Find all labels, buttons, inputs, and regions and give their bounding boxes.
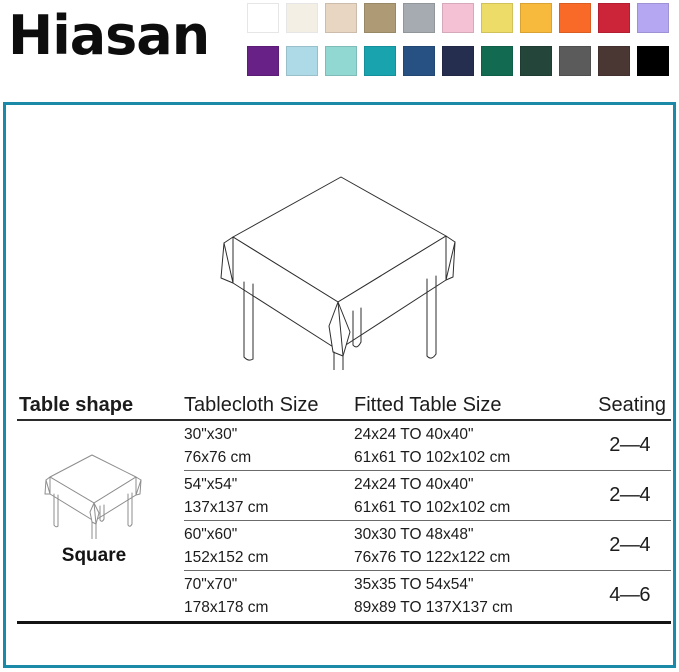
square-tablecloth-illustration (196, 160, 476, 370)
cell-tablecloth-size: 60"x60" 152x152 cm (184, 523, 268, 569)
tablecloth-size-cm: 152x152 cm (184, 546, 268, 569)
tablecloth-size-inches: 70"x70" (184, 576, 237, 593)
color-swatch-pink[interactable] (442, 3, 474, 33)
color-swatch-dark-gray[interactable] (559, 46, 591, 76)
table-bottom-rule (17, 621, 671, 624)
color-swatch-navy[interactable] (442, 46, 474, 76)
color-swatch-grid (247, 3, 675, 76)
tablecloth-size-inches: 30"x30" (184, 426, 237, 443)
column-header-table-shape: Table shape (19, 394, 133, 417)
fitted-size-inches: 24x24 TO 40x40" (354, 426, 474, 443)
fitted-size-inches: 30x30 TO 48x48" (354, 526, 474, 543)
tablecloth-size-inches: 54"x54" (184, 476, 237, 493)
color-swatch-hunter-green[interactable] (520, 46, 552, 76)
fitted-size-cm: 89x89 TO 137X137 cm (354, 596, 513, 619)
tablecloth-size-cm: 137x137 cm (184, 496, 268, 519)
cell-fitted-table-size: 30x30 TO 48x48" 76x76 TO 122x122 cm (354, 523, 510, 569)
color-swatch-taupe[interactable] (364, 3, 396, 33)
brand-logo: Hiasan (8, 6, 209, 66)
color-swatch-ivory[interactable] (286, 3, 318, 33)
fitted-size-inches: 35x35 TO 54x54" (354, 576, 474, 593)
color-swatch-denim-blue[interactable] (403, 46, 435, 76)
color-swatch-black[interactable] (637, 46, 669, 76)
tablecloth-size-inches: 60"x60" (184, 526, 237, 543)
color-swatch-marigold[interactable] (520, 3, 552, 33)
color-swatch-light-blue[interactable] (286, 46, 318, 76)
cell-tablecloth-size: 30"x30" 76x76 cm (184, 423, 251, 469)
color-swatch-silver-gray[interactable] (403, 3, 435, 33)
cell-seating: 2—4 (609, 484, 650, 507)
color-swatch-purple[interactable] (247, 46, 279, 76)
color-swatch-aqua[interactable] (325, 46, 357, 76)
page-header: Hiasan (0, 0, 679, 96)
illustration-area (6, 105, 673, 377)
color-swatch-emerald[interactable] (481, 46, 513, 76)
cell-tablecloth-size: 70"x70" 178x178 cm (184, 573, 268, 619)
square-table-icon (34, 453, 154, 539)
cell-tablecloth-size: 54"x54" 137x137 cm (184, 473, 268, 519)
size-table: Table shape Tablecloth Size Fitted Table… (13, 387, 672, 419)
cell-fitted-table-size: 24x24 TO 40x40" 61x61 TO 102x102 cm (354, 473, 510, 519)
color-swatch-teal[interactable] (364, 46, 396, 76)
fitted-size-cm: 61x61 TO 102x102 cm (354, 496, 510, 519)
tablecloth-size-cm: 178x178 cm (184, 596, 268, 619)
size-spec-panel: Table shape Tablecloth Size Fitted Table… (3, 102, 676, 668)
cell-seating: 2—4 (609, 434, 650, 457)
shape-label: Square (14, 545, 174, 567)
fitted-size-inches: 24x24 TO 40x40" (354, 476, 474, 493)
color-swatch-dark-brown[interactable] (598, 46, 630, 76)
color-swatch-red[interactable] (598, 3, 630, 33)
color-swatch-lavender[interactable] (637, 3, 669, 33)
shape-cell: Square (14, 453, 174, 567)
column-header-tablecloth-size: Tablecloth Size (184, 394, 319, 417)
cell-fitted-table-size: 24x24 TO 40x40" 61x61 TO 102x102 cm (354, 423, 510, 469)
cell-fitted-table-size: 35x35 TO 54x54" 89x89 TO 137X137 cm (354, 573, 513, 619)
cell-seating: 4—6 (609, 584, 650, 607)
table-row: 70"x70" 178x178 cm 35x35 TO 54x54" 89x89… (13, 571, 672, 621)
cell-seating: 2—4 (609, 534, 650, 557)
column-header-seating: Seating (598, 394, 666, 417)
size-table-header-row: Table shape Tablecloth Size Fitted Table… (13, 387, 672, 419)
color-swatch-orange[interactable] (559, 3, 591, 33)
fitted-size-cm: 76x76 TO 122x122 cm (354, 546, 510, 569)
color-swatch-yellow[interactable] (481, 3, 513, 33)
color-swatch-beige[interactable] (325, 3, 357, 33)
color-swatch-white[interactable] (247, 3, 279, 33)
tablecloth-size-cm: 76x76 cm (184, 446, 251, 469)
fitted-size-cm: 61x61 TO 102x102 cm (354, 446, 510, 469)
column-header-fitted-table-size: Fitted Table Size (354, 394, 502, 417)
